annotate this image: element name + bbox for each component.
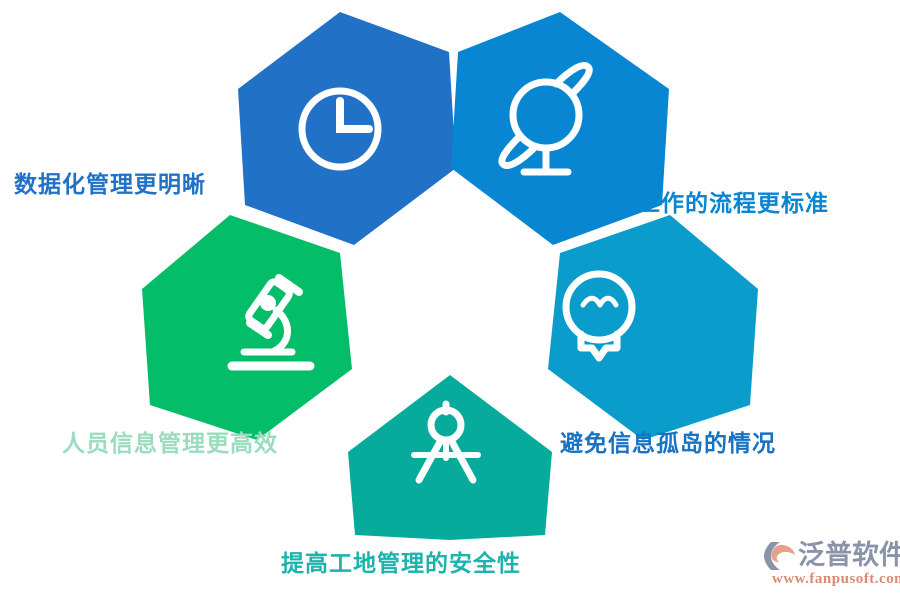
- label-personnel-info: 人员信息管理更高效: [62, 432, 278, 455]
- logo-url: www.fanpusoft.com: [772, 571, 900, 588]
- hexagon-infographic: 数据化管理更明晰 工作的流程更标准 人员信息管理更高效 避免信息孤岛的情况 提高…: [0, 0, 900, 600]
- label-information-island: 避免信息孤岛的情况: [560, 432, 776, 455]
- petal-data-management[interactable]: [238, 12, 456, 245]
- logo-name: 泛普软件: [798, 539, 900, 571]
- hexagon-shape-information-island: [548, 215, 758, 440]
- label-work-process: 工作的流程更标准: [637, 192, 829, 215]
- label-site-safety: 提高工地管理的安全性: [281, 552, 521, 575]
- fanpu-logo-mark-icon: [764, 541, 798, 571]
- petal-personnel-info[interactable]: [142, 215, 352, 440]
- petal-site-safety[interactable]: [348, 375, 552, 540]
- hexagon-shape-personnel-info: [142, 215, 352, 440]
- label-data-management: 数据化管理更明晰: [14, 173, 206, 196]
- hexagon-cluster: [0, 0, 900, 600]
- brand-logo[interactable]: 泛普软件 www.fanpusoft.com: [764, 539, 894, 591]
- petal-information-island[interactable]: [548, 215, 758, 440]
